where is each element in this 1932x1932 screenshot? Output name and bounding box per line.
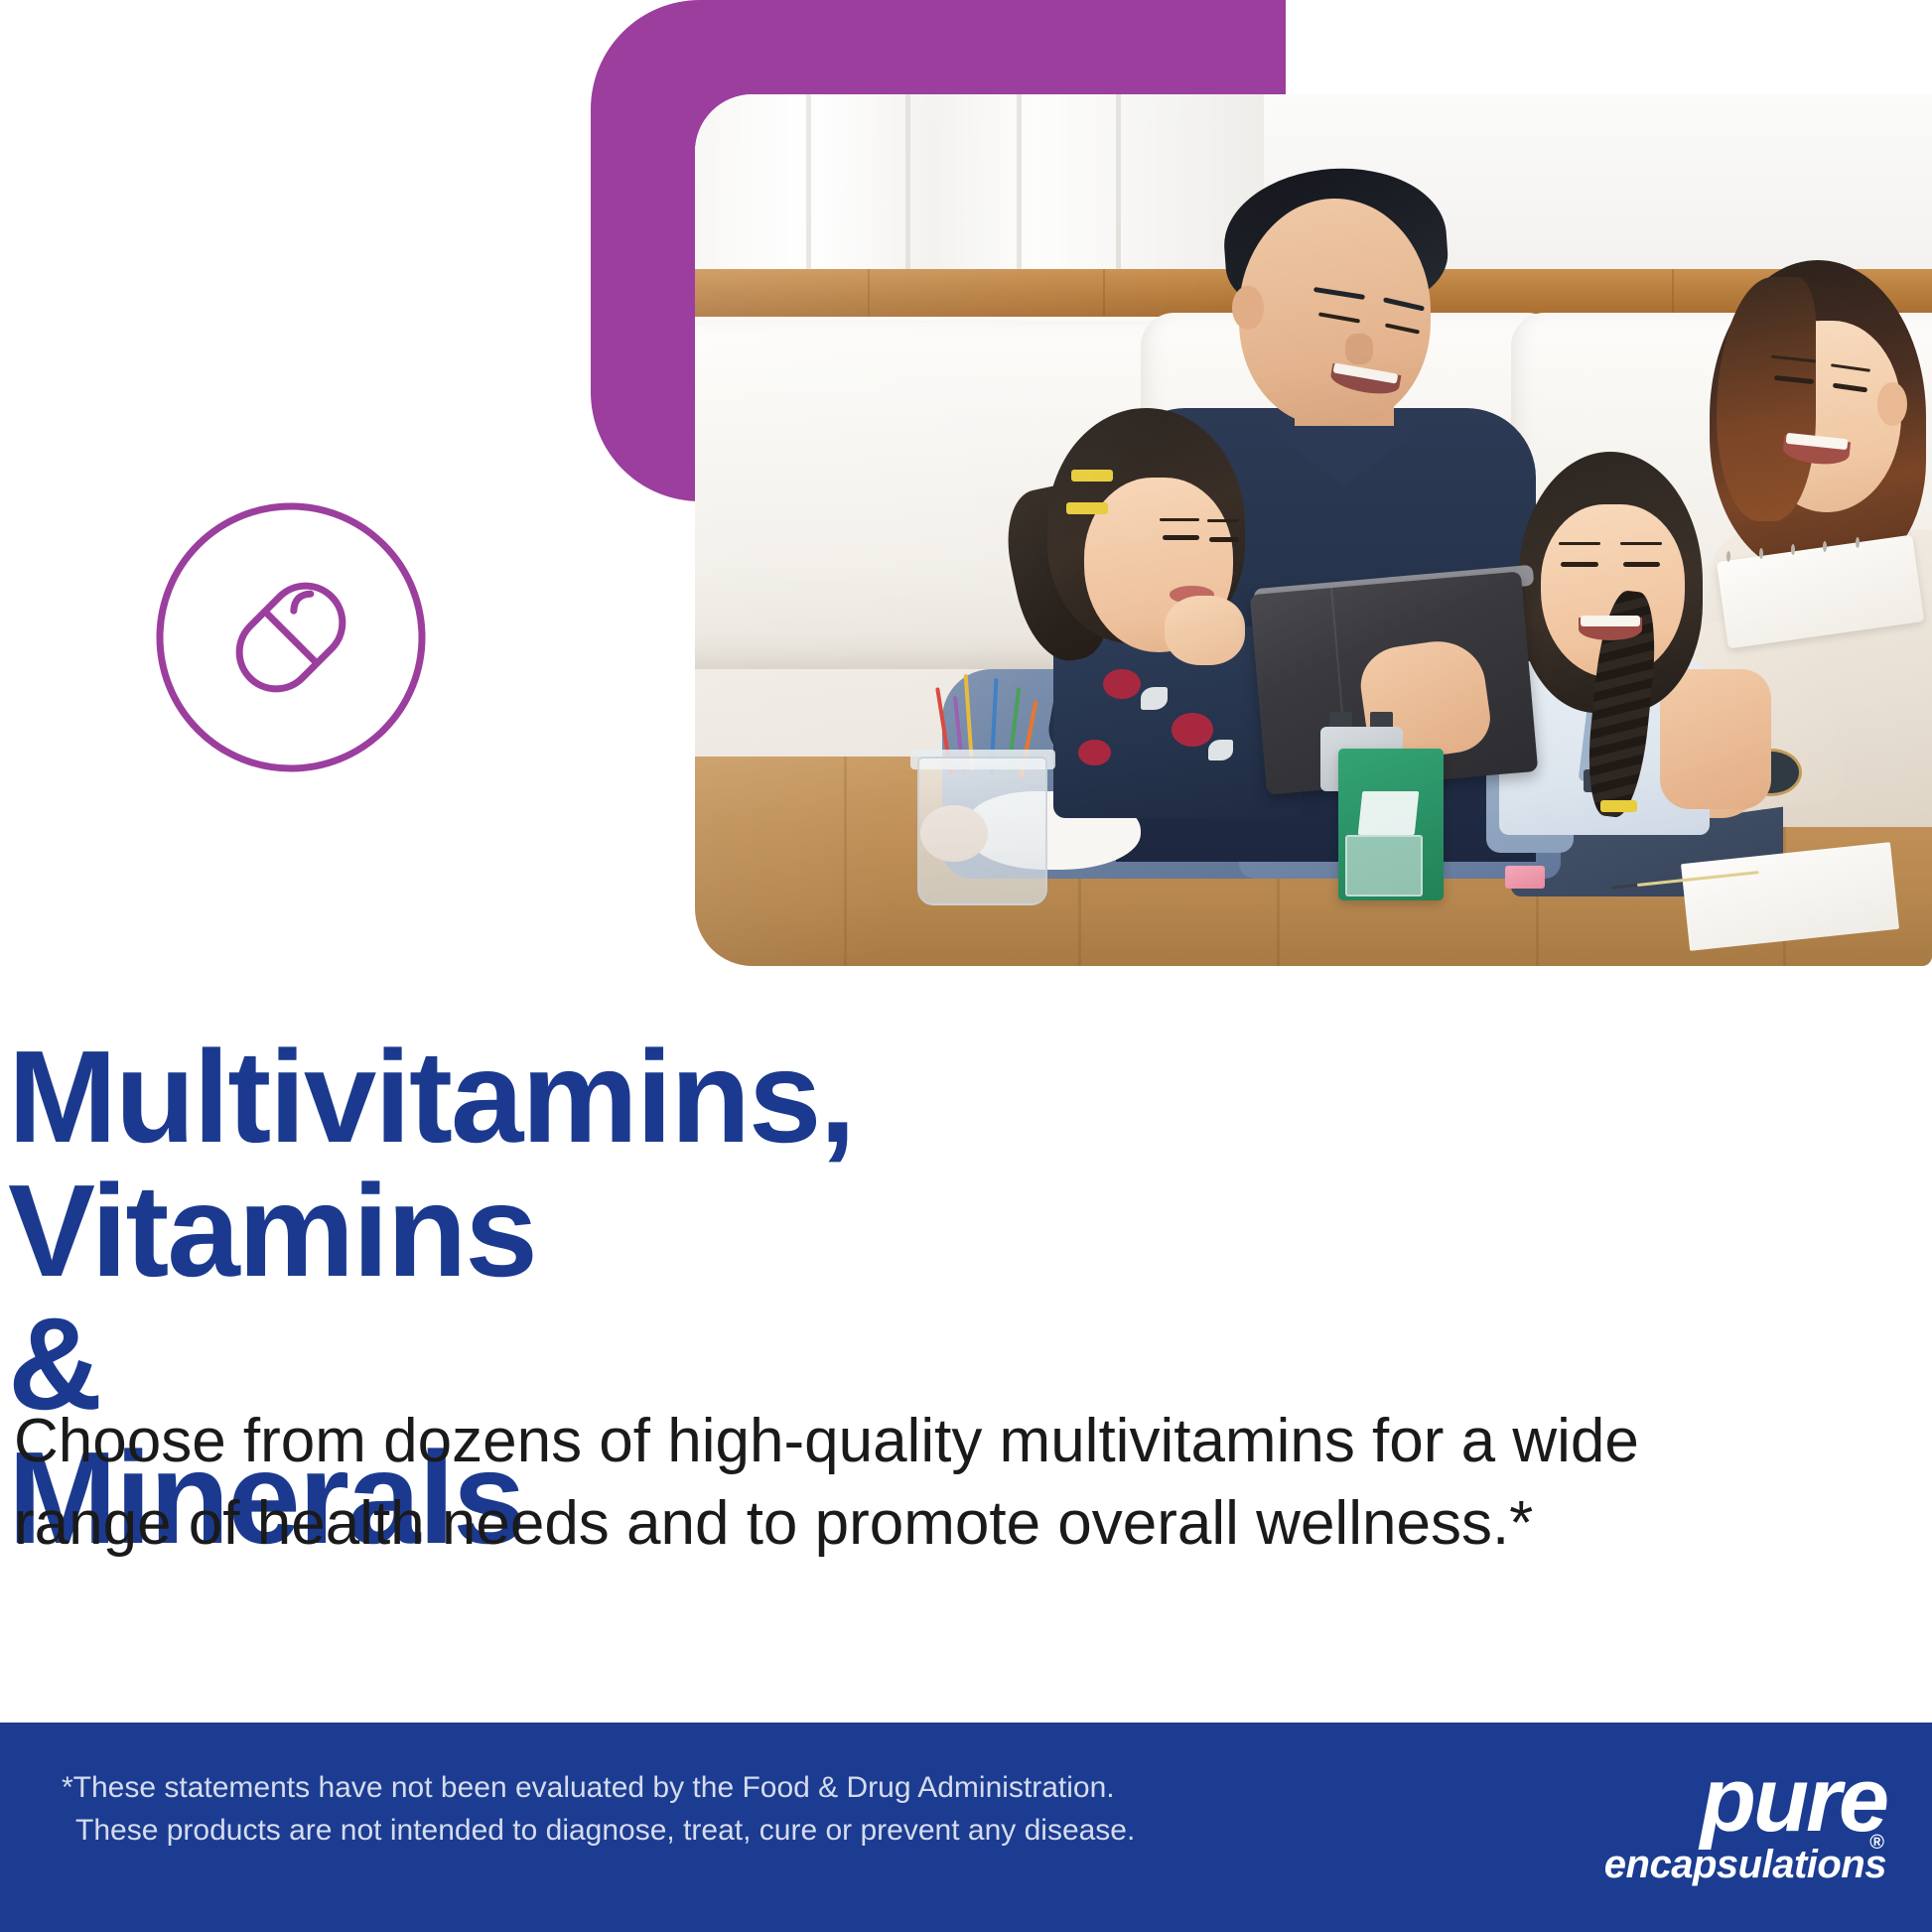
promo-page: Multivitamins, Vitamins & Minerals Choos… xyxy=(0,0,1932,1932)
hero-photo xyxy=(695,94,1932,966)
disclaimer-line-1: *These statements have not been evaluate… xyxy=(62,1771,1115,1804)
logo-wordmark-pure: pure xyxy=(1489,1758,1886,1843)
fda-disclaimer: *These statements have not been evaluate… xyxy=(62,1766,1332,1852)
brand-logo: pure encapsulations ® xyxy=(1489,1758,1886,1891)
headline-line-1: Multivitamins, xyxy=(8,1024,854,1170)
footer-bar: *These statements have not been evaluate… xyxy=(0,1723,1932,1932)
body-copy: Choose from dozens of high-quality multi… xyxy=(14,1400,1702,1565)
capsule-pill-icon xyxy=(147,493,435,781)
registered-trademark-icon: ® xyxy=(1869,1832,1884,1855)
logo-wordmark-encapsulations: encapsulations xyxy=(1489,1845,1886,1884)
photo-pencil-jar xyxy=(917,757,1047,904)
disclaimer-line-2: These products are not intended to diagn… xyxy=(62,1809,1332,1852)
photo-eraser xyxy=(1505,866,1545,889)
